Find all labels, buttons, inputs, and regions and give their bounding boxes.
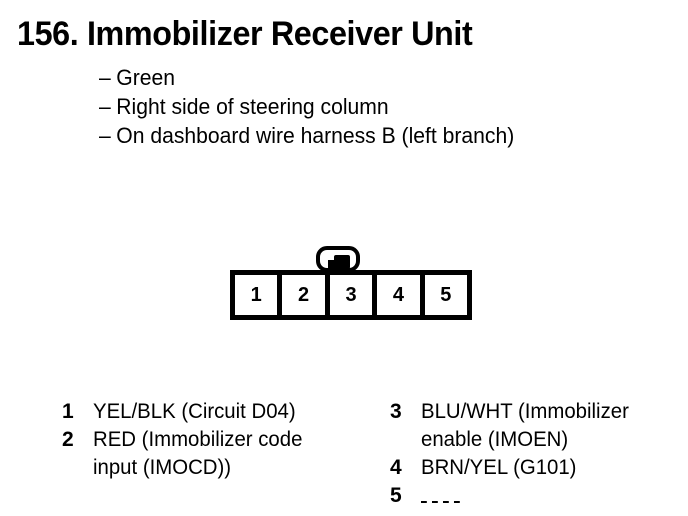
pin-number: 4	[390, 454, 421, 482]
pin-description-line: input (IMOCD))	[93, 454, 373, 482]
note-text: Green	[116, 63, 175, 92]
page-title: 156. Immobilizer Receiver Unit	[17, 14, 472, 54]
dash-icon: –	[99, 63, 116, 92]
pin-legend: 1 YEL/BLK (Circuit D04) 2 RED (Immobiliz…	[0, 398, 688, 516]
pin-legend-row: 2 RED (Immobilizer code input (IMOCD))	[62, 426, 382, 482]
pin-legend-row: 4 BRN/YEL (G101)	[390, 454, 688, 482]
pin-description-line: BRN/YEL (G101)	[421, 454, 680, 482]
pin-legend-left-column: 1 YEL/BLK (Circuit D04) 2 RED (Immobiliz…	[62, 398, 382, 482]
pin-description-line: RED (Immobilizer code	[93, 426, 373, 454]
pin-number: 5	[390, 482, 421, 510]
not-used-dash-icon	[421, 501, 460, 503]
pin-legend-row: 3 BLU/WHT (Immobilizer enable (IMOEN)	[390, 398, 688, 454]
note-text: Right side of steering column	[116, 92, 388, 121]
dash-icon: –	[99, 121, 116, 150]
pin-description-line: BLU/WHT (Immobilizer	[421, 398, 680, 426]
connector-pin-5: 5	[425, 275, 467, 315]
pin-legend-row: 1 YEL/BLK (Circuit D04)	[62, 398, 382, 426]
notes-list: – Green – Right side of steering column …	[99, 63, 659, 150]
pin-legend-row: 5	[390, 482, 688, 510]
pin-description: RED (Immobilizer code input (IMOCD))	[93, 426, 373, 482]
pin-legend-right-column: 3 BLU/WHT (Immobilizer enable (IMOEN) 4 …	[390, 398, 688, 510]
connector-pin-1: 1	[235, 275, 277, 315]
dash-icon: –	[99, 92, 116, 121]
pin-description-line: enable (IMOEN)	[421, 426, 680, 454]
pin-number: 3	[390, 398, 421, 426]
note-text: On dashboard wire harness B (left branch…	[116, 121, 514, 150]
note-item: – Green	[99, 63, 637, 92]
connector-body: 1 2 3 4 5	[230, 270, 472, 320]
pin-description-empty	[421, 482, 680, 510]
pin-number: 2	[62, 426, 93, 454]
note-item: – Right side of steering column	[99, 92, 637, 121]
connector-pin-2: 2	[282, 275, 324, 315]
pin-description: YEL/BLK (Circuit D04)	[93, 398, 373, 426]
pin-description: BRN/YEL (G101)	[421, 454, 680, 482]
diagram-page: 156. Immobilizer Receiver Unit – Green –…	[0, 0, 688, 516]
connector-pin-4: 4	[377, 275, 419, 315]
note-item: – On dashboard wire harness B (left bran…	[99, 121, 637, 150]
pin-number: 1	[62, 398, 93, 426]
pin-description-line: YEL/BLK (Circuit D04)	[93, 398, 373, 426]
pin-description: BLU/WHT (Immobilizer enable (IMOEN)	[421, 398, 680, 454]
connector-pin-3: 3	[330, 275, 372, 315]
connector-diagram: 1 2 3 4 5	[230, 246, 472, 320]
